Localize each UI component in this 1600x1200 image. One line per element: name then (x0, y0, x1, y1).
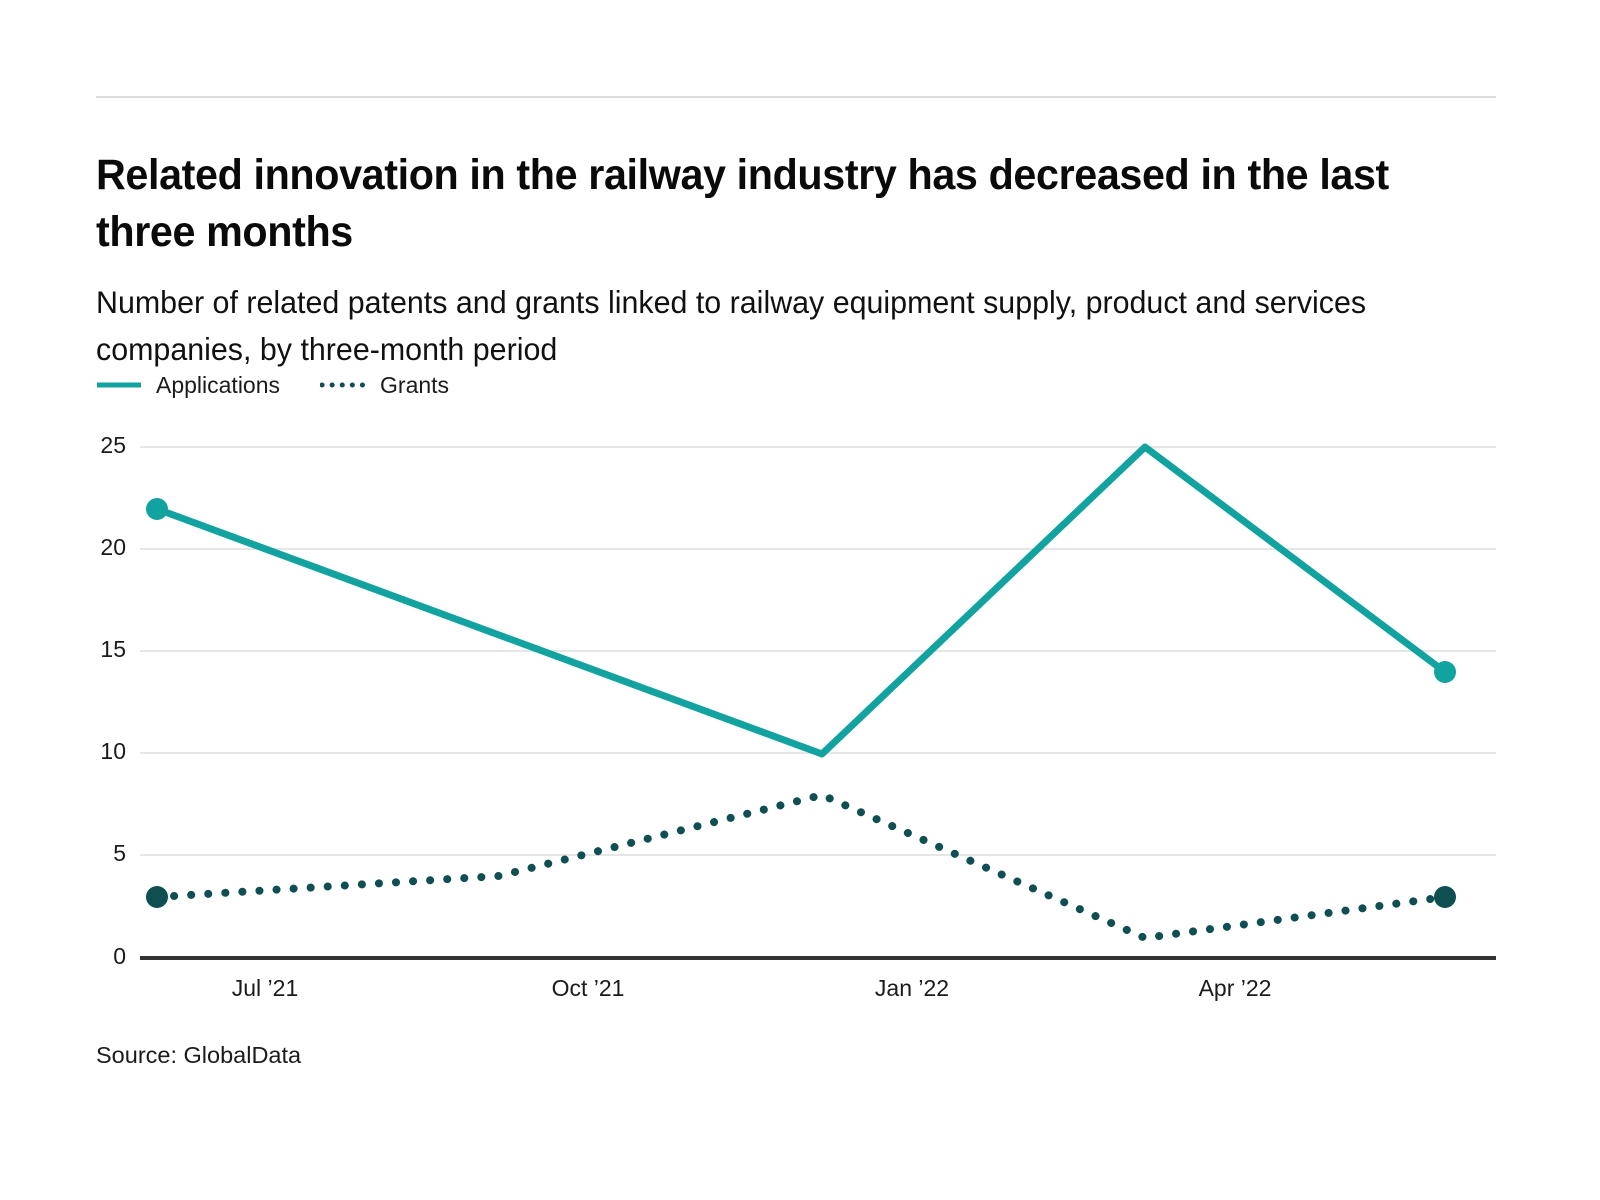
source-attribution: Source: GlobalData (96, 1042, 301, 1069)
gridlines (140, 447, 1496, 855)
series-line-applications (157, 447, 1445, 754)
y-tick-label-0: 0 (113, 943, 126, 969)
chart-page: Related innovation in the railway indust… (0, 0, 1600, 1200)
x-tick-label-jan-22: Jan ’22 (875, 975, 949, 1001)
line-chart: 25 20 15 10 5 0 Jul ’21 Oct ’21 Jan ’22 … (0, 0, 1600, 1200)
x-tick-label-apr-22: Apr ’22 (1199, 975, 1272, 1001)
data-point-marker-grants-first (146, 886, 168, 908)
data-point-marker-applications-last (1434, 661, 1456, 683)
y-tick-label-20: 20 (100, 534, 126, 560)
y-tick-label-25: 25 (100, 432, 126, 458)
data-point-marker-applications-first (146, 498, 168, 520)
x-axis-tick-labels: Jul ’21 Oct ’21 Jan ’22 Apr ’22 (232, 975, 1272, 1001)
y-tick-label-5: 5 (113, 840, 126, 866)
series-line-grants (157, 795, 1445, 938)
x-tick-label-jul-21: Jul ’21 (232, 975, 298, 1001)
data-point-marker-grants-last (1434, 886, 1456, 908)
y-tick-label-10: 10 (100, 738, 126, 764)
y-axis-tick-labels: 25 20 15 10 5 0 (100, 432, 126, 969)
x-tick-label-oct-21: Oct ’21 (552, 975, 625, 1001)
y-tick-label-15: 15 (100, 636, 126, 662)
